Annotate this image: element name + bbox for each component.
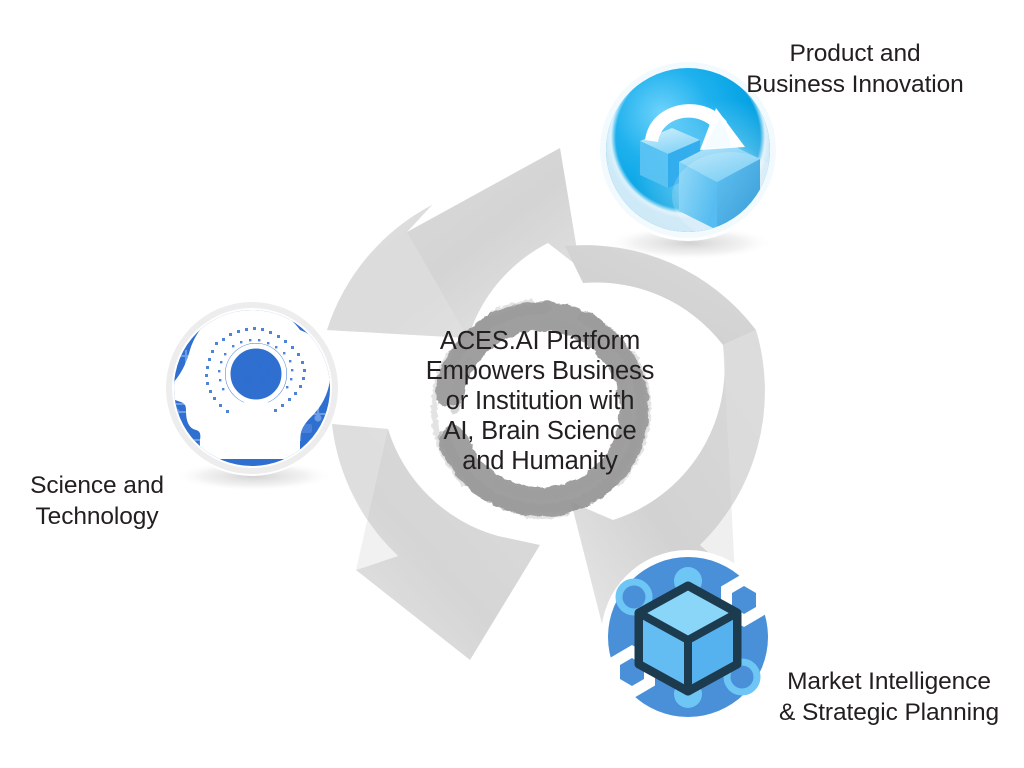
label-science-and-technology: Science and Technology [2,470,192,532]
label-product-business-innovation: Product and Business Innovation [704,38,1006,100]
label-market-intelligence-strategic-planning: Market Intelligence & Strategic Planning [760,666,1018,728]
central-cube-shape [639,586,737,691]
node-icons-group [0,0,1024,768]
diagram-canvas: ACES.AI Platform Empowers Business or In… [0,0,1024,768]
icon-market-intelligence[interactable] [601,550,775,724]
icon-science-and-technology[interactable] [160,296,340,491]
